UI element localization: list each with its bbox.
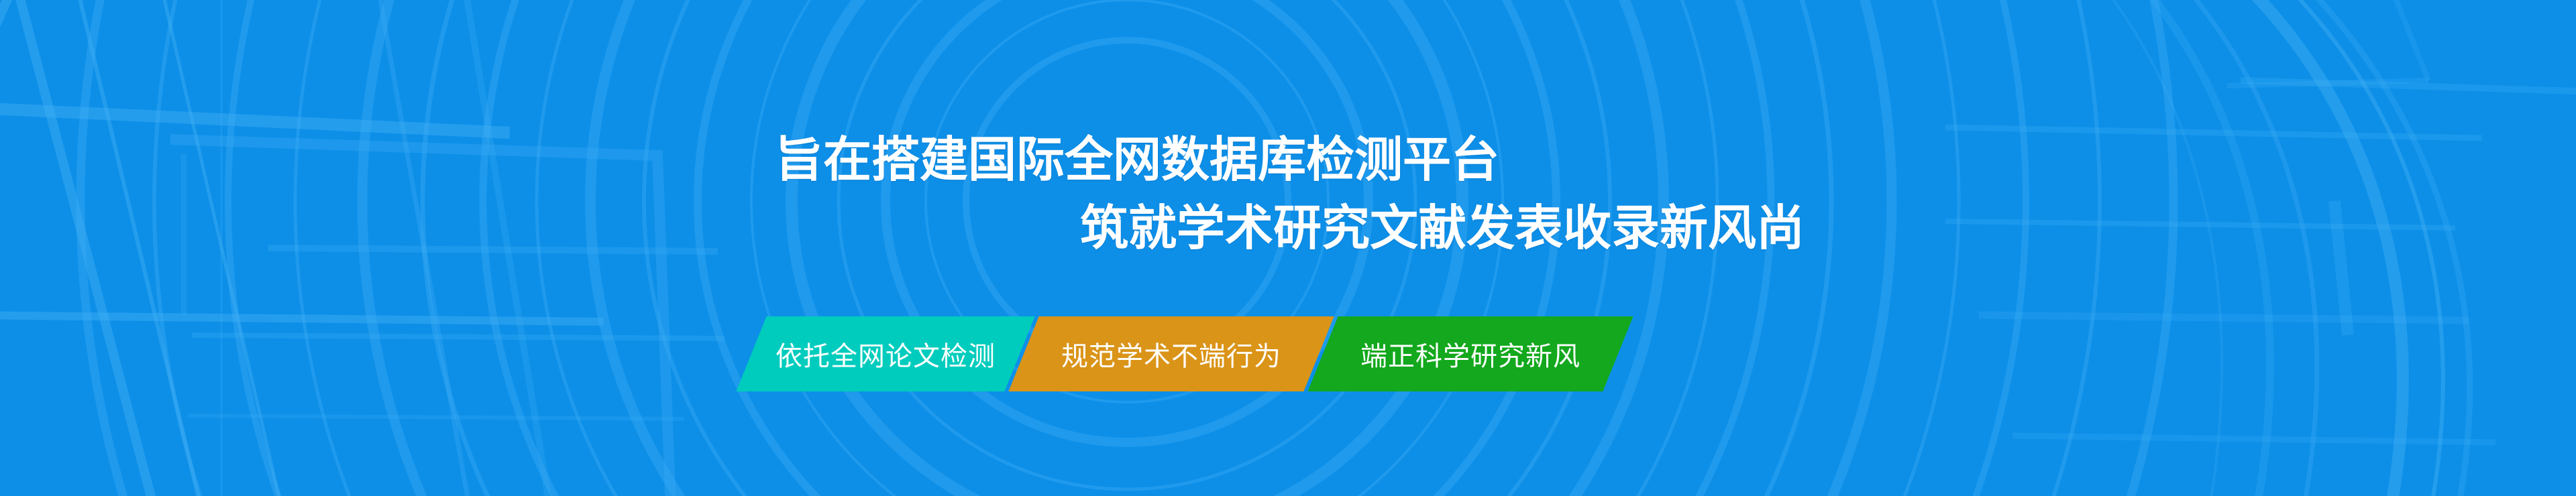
feature-tag-strip: 依托全网论文检测 规范学术不端行为 端正科学研究新风 (751, 316, 1622, 391)
promo-banner: 旨在搭建国际全网数据库检测平台 筑就学术研究文献发表收录新风尚 依托全网论文检测… (0, 0, 2576, 496)
feature-tag-label: 规范学术不端行为 (1061, 334, 1281, 373)
feature-tag-label: 端正科学研究新风 (1360, 334, 1580, 373)
feature-tag-research-ethics[interactable]: 端正科学研究新风 (1307, 316, 1633, 391)
headline-line-2: 筑就学术研究文献发表收录新风尚 (1080, 194, 2576, 263)
headline-block: 旨在搭建国际全网数据库检测平台 筑就学术研究文献发表收录新风尚 (0, 126, 2576, 263)
headline-line-1: 旨在搭建国际全网数据库检测平台 (775, 126, 2576, 194)
feature-tag-label: 依托全网论文检测 (775, 334, 996, 373)
feature-tag-misconduct-regulation[interactable]: 规范学术不端行为 (1008, 316, 1334, 391)
feature-tag-paper-detection[interactable]: 依托全网论文检测 (736, 316, 1034, 391)
